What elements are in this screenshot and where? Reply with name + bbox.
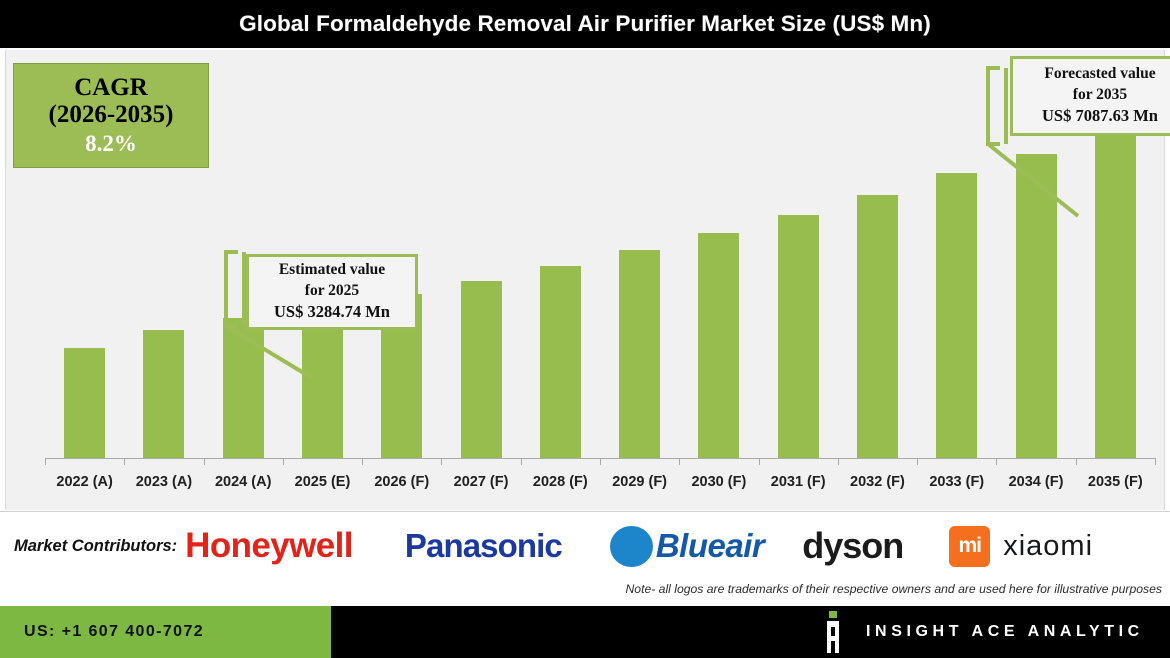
xiaomi-mi-icon: mi (949, 526, 990, 567)
x-axis-label: 2035 (F) (1076, 468, 1155, 498)
x-axis-labels: 2022 (A)2023 (A)2024 (A)2025 (E)2026 (F)… (45, 468, 1155, 498)
bar-2031-f- (778, 215, 819, 458)
logo-honeywell: Honeywell (185, 526, 353, 566)
contributors-row: Market Contributors: Honeywell Panasonic… (0, 512, 1170, 580)
logo-dyson: dyson (802, 525, 903, 567)
bar-2029-f- (619, 250, 660, 458)
logo-xiaomi: mi xiaomi (949, 526, 1093, 567)
x-axis-tick (1155, 458, 1156, 465)
x-axis-label: 2023 (A) (124, 468, 203, 498)
estimated-value: US$ 3284.74 Mn (274, 301, 390, 323)
footer-brand-name: INSIGHT ACE ANALYTIC (866, 623, 1144, 641)
forecast-value-callout: Forecasted value for 2035 US$ 7087.63 Mn (1010, 56, 1170, 136)
footer-phone: US: +1 607 400-7072 (24, 623, 204, 641)
page-title-bar: Global Formaldehyde Removal Air Purifier… (0, 0, 1170, 48)
bar-2024-a- (223, 318, 264, 458)
x-axis-tick (283, 458, 284, 465)
page-title: Global Formaldehyde Removal Air Purifier… (239, 11, 931, 37)
logo-blueair: Blueair (610, 526, 764, 567)
x-axis-label: 2027 (F) (441, 468, 520, 498)
bar-2035-f- (1095, 132, 1136, 458)
x-axis-label: 2026 (F) (362, 468, 441, 498)
x-axis-label: 2029 (F) (600, 468, 679, 498)
x-axis-tick (838, 458, 839, 465)
x-axis-tick (759, 458, 760, 465)
x-axis-tick (996, 458, 997, 465)
forecast-value: US$ 7087.63 Mn (1042, 105, 1158, 127)
x-axis-tick (45, 458, 46, 465)
insight-ace-logo-icon (818, 611, 848, 653)
x-axis-label: 2032 (F) (838, 468, 917, 498)
x-axis-tick (679, 458, 680, 465)
bar-2023-a- (143, 330, 184, 458)
x-axis-label: 2031 (F) (759, 468, 838, 498)
logo-xiaomi-text: xiaomi (1003, 530, 1093, 563)
chart-panel: 2022 (A)2023 (A)2024 (A)2025 (E)2026 (F)… (5, 50, 1165, 510)
x-axis-label: 2022 (A) (45, 468, 124, 498)
x-axis-tick (600, 458, 601, 465)
bar-2033-f- (936, 173, 977, 458)
bar-2032-f- (857, 195, 898, 458)
x-axis-label: 2025 (E) (283, 468, 362, 498)
estimated-line-1: Estimated value (279, 260, 385, 280)
x-axis-tick (521, 458, 522, 465)
bar-2027-f- (461, 281, 502, 458)
bar-2022-a- (64, 348, 105, 458)
footer-bar: US: +1 607 400-7072 INSIGHT ACE ANALYTIC (0, 606, 1170, 658)
x-axis-tick (1076, 458, 1077, 465)
x-axis-label: 2030 (F) (679, 468, 758, 498)
infographic-page: Global Formaldehyde Removal Air Purifier… (0, 0, 1170, 658)
bar-2028-f- (540, 266, 581, 458)
x-axis-label: 2033 (F) (917, 468, 996, 498)
cagr-value: 8.2% (85, 131, 137, 157)
x-axis-tick (917, 458, 918, 465)
logo-panasonic: Panasonic (405, 527, 562, 565)
cagr-label: CAGR (74, 74, 148, 101)
x-axis-label: 2034 (F) (996, 468, 1075, 498)
x-axis-label: 2024 (A) (204, 468, 283, 498)
bar-2034-f- (1016, 154, 1057, 458)
cagr-period: (2026-2035) (49, 101, 174, 129)
cagr-box: CAGR (2026-2035) 8.2% (13, 63, 209, 168)
forecast-line-2: for 2035 (1073, 85, 1127, 105)
forecast-line-1: Forecasted value (1044, 64, 1155, 84)
x-axis-label: 2028 (F) (521, 468, 600, 498)
blueair-circle-icon (610, 526, 653, 567)
trademark-note: Note- all logos are trademarks of their … (625, 582, 1162, 596)
bar-2030-f- (698, 233, 739, 458)
x-axis-tick (204, 458, 205, 465)
x-axis-tick (441, 458, 442, 465)
logo-blueair-text: Blueair (656, 527, 764, 565)
x-axis-tick (362, 458, 363, 465)
estimated-line-2: for 2025 (305, 281, 359, 301)
estimated-value-callout: Estimated value for 2025 US$ 3284.74 Mn (246, 254, 418, 330)
contributors-label: Market Contributors: (14, 537, 177, 556)
x-axis-tick (124, 458, 125, 465)
footer-contact-block: US: +1 607 400-7072 (0, 606, 331, 658)
footer-brand: INSIGHT ACE ANALYTIC (818, 606, 1144, 658)
market-contributors-strip: Market Contributors: Honeywell Panasonic… (0, 511, 1170, 605)
